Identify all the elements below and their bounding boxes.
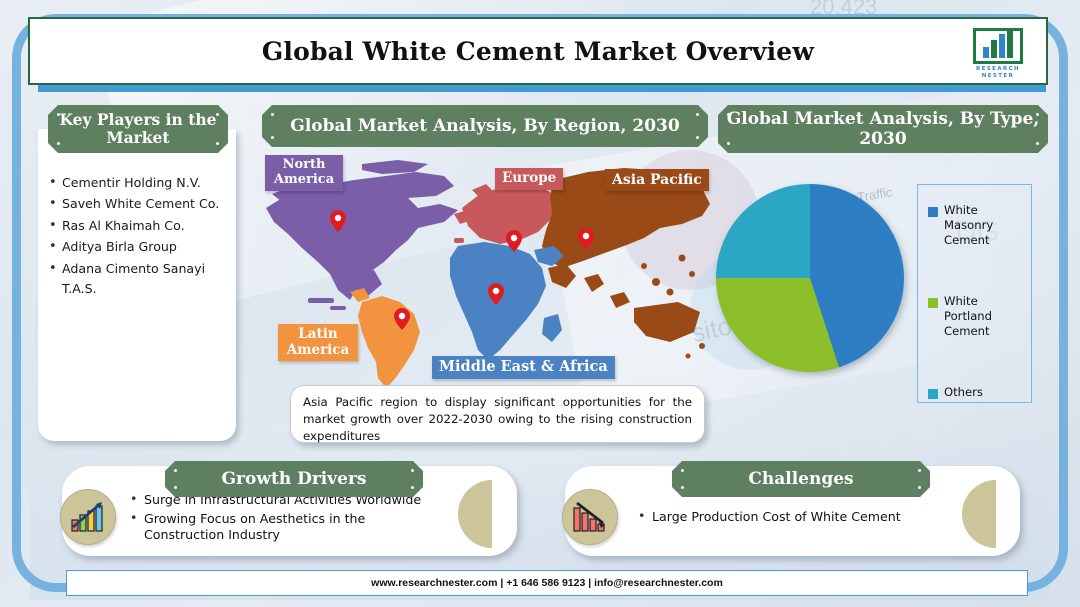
region-label-north-america: North America xyxy=(265,155,343,191)
market-share-pie-chart xyxy=(716,184,904,372)
region-label-middle-east-africa: Middle East & Africa xyxy=(432,356,615,379)
legend-item: White Masonry Cement xyxy=(928,203,1023,248)
challenges-list: Large Production Cost of White Cement xyxy=(636,509,966,528)
map-region-europe xyxy=(454,184,556,244)
key-players-card: Cementir Holding N.V. Saveh White Cement… xyxy=(38,129,236,441)
list-item: Cementir Holding N.V. xyxy=(46,173,226,193)
key-players-heading: Key Players in the Market xyxy=(48,105,228,153)
map-pin-middle-east-africa-icon xyxy=(488,283,504,305)
bar-chart-up-icon xyxy=(60,489,116,545)
logo-bars-icon xyxy=(973,28,1023,64)
logo-text-line2: NESTER xyxy=(976,73,1020,80)
page-title: Global White Cement Market Overview xyxy=(262,37,814,66)
footer-bar: www.researchnester.com | +1 646 586 9123… xyxy=(66,570,1028,596)
challenges-heading: Challenges xyxy=(672,461,930,497)
legend-item: White Portland Cement xyxy=(928,294,1023,339)
map-callout-text: Asia Pacific region to display significa… xyxy=(290,385,705,443)
key-players-list: Cementir Holding N.V. Saveh White Cement… xyxy=(46,173,226,299)
map-pin-asia-pacific-icon xyxy=(578,228,594,250)
type-panel-heading-label: Global Market Analysis, By Type, 2030 xyxy=(718,109,1048,150)
list-item: Aditya Birla Group xyxy=(46,237,226,257)
growth-drivers-heading: Growth Drivers xyxy=(165,461,423,497)
map-region-asia-pacific xyxy=(542,168,710,359)
type-panel-heading: Global Market Analysis, By Type, 2030 xyxy=(718,105,1048,153)
header-bar: Global White Cement Market Overview RESE… xyxy=(28,17,1048,85)
logo-text: RESEARCH NESTER xyxy=(976,66,1020,81)
region-label-asia-pacific: Asia Pacific xyxy=(605,169,709,191)
list-item: Ras Al Khaimah Co. xyxy=(46,216,226,236)
map-panel-heading-label: Global Market Analysis, By Region, 2030 xyxy=(290,116,679,136)
map-pin-latin-america-icon xyxy=(394,308,410,330)
map-pin-north-america-icon xyxy=(330,210,346,232)
list-item: Adana Cimento Sanayi T.A.S. xyxy=(46,259,226,300)
legend-label: White Masonry Cement xyxy=(944,203,1023,248)
legend-label: White Portland Cement xyxy=(944,294,1023,339)
legend-swatch-others xyxy=(928,389,938,399)
map-panel-heading: Global Market Analysis, By Region, 2030 xyxy=(262,105,708,147)
legend-label: Others xyxy=(944,385,983,400)
legend-swatch-white-masonry-cement xyxy=(928,207,938,217)
map-region-middle-east-africa xyxy=(450,242,564,360)
legend-swatch-white-portland-cement xyxy=(928,298,938,308)
challenges-heading-label: Challenges xyxy=(748,469,853,489)
legend-item: Others xyxy=(928,385,1023,400)
list-item: Growing Focus on Aesthetics in the Const… xyxy=(128,511,428,543)
map-region-latin-america xyxy=(350,288,420,388)
key-players-heading-label: Key Players in the Market xyxy=(48,111,228,147)
pie-chart-legend: White Masonry Cement White Portland Ceme… xyxy=(917,184,1032,403)
header-underline xyxy=(38,85,1046,92)
growth-drivers-heading-label: Growth Drivers xyxy=(222,469,367,489)
bar-chart-down-icon xyxy=(562,489,618,545)
research-nester-logo: RESEARCH NESTER xyxy=(960,25,1036,83)
growth-drivers-list: Surge in Infrastructural Activities Worl… xyxy=(128,492,428,546)
logo-text-line1: RESEARCH xyxy=(976,66,1020,73)
footer-contact-text: www.researchnester.com | +1 646 586 9123… xyxy=(371,577,723,589)
region-label-europe: Europe xyxy=(495,168,563,190)
map-pin-europe-icon xyxy=(506,230,522,252)
region-label-latin-america: Latin America xyxy=(278,324,358,361)
list-item: Saveh White Cement Co. xyxy=(46,194,226,214)
list-item: Large Production Cost of White Cement xyxy=(636,509,966,525)
